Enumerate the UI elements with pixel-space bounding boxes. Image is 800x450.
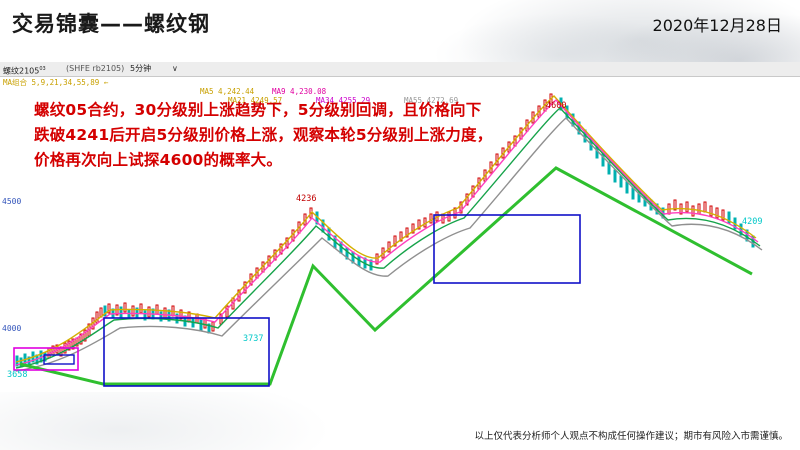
annotation-line-2: 跌破4241后开启5分级别价格上涨，观察本轮5分级别上涨力度， <box>34 123 634 148</box>
point-label-4209: 4209 <box>742 217 762 227</box>
page-header: 交易锦囊——螺纹钢 2020年12月28日 <box>0 0 800 62</box>
page-date: 2020年12月28日 <box>653 12 782 36</box>
page-footer: 以上仅代表分析师个人观点不构成任何操作建议；期市有风险入市需谨慎。 <box>0 392 800 450</box>
analyst-annotation: 螺纹05合约，30分级别上涨趋势下，5分级别回调，且价格向下 跌破4241后开启… <box>34 98 634 173</box>
point-label-4236: 4236 <box>296 194 316 204</box>
disclaimer-text: 以上仅代表分析师个人观点不构成任何操作建议；期市有风险入市需谨慎。 <box>474 428 788 442</box>
drawn-boxes <box>14 215 580 386</box>
annotation-line-3: 价格再次向上试探4600的概率大。 <box>34 148 634 173</box>
point-label-3737: 3737 <box>243 334 263 344</box>
annotation-line-1: 螺纹05合约，30分级别上涨趋势下，5分级别回调，且价格向下 <box>34 98 634 123</box>
page-title: 交易锦囊——螺纹钢 <box>12 8 210 38</box>
box-blue-3 <box>434 215 580 283</box>
point-label-3658: 3658 <box>7 370 27 380</box>
